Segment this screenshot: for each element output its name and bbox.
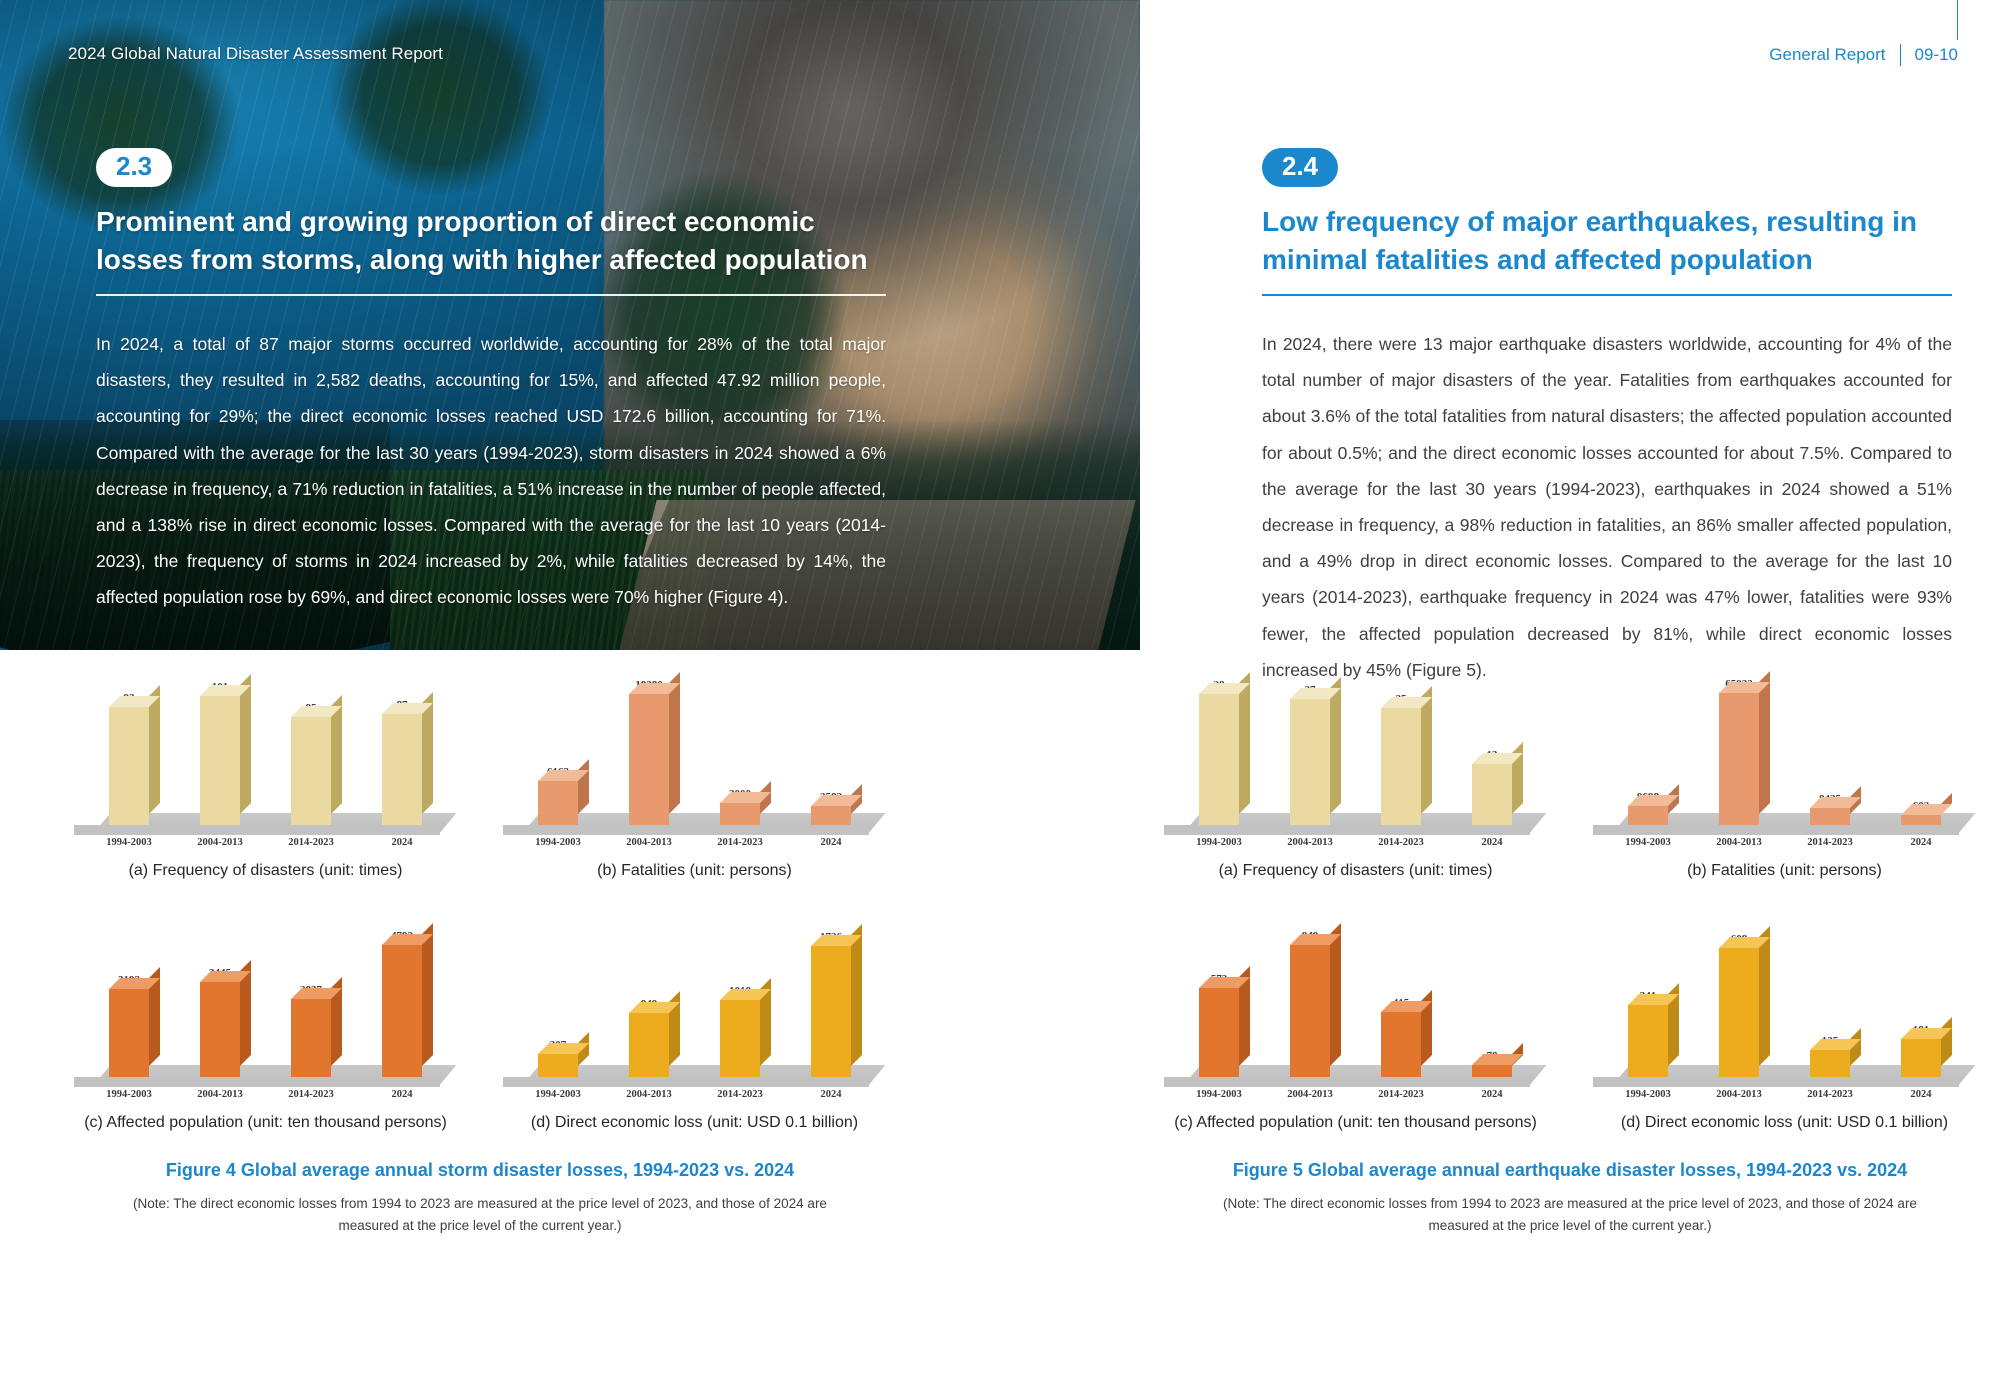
figure-5-note: (Note: The direct economic losses from 1… [1150, 1193, 1990, 1236]
bar-group: 1726 [808, 899, 854, 1077]
bar-side [1759, 926, 1770, 1066]
chart-plot-area: 28272513 [1156, 640, 1556, 835]
x-tick-label: 2014-2023 [1378, 1089, 1424, 1100]
x-tick-label: 2004-2013 [197, 1089, 243, 1100]
section-title-2-3: Prominent and growing proportion of dire… [96, 203, 886, 280]
bar-1994-2003 [538, 781, 578, 825]
section-number-badge-2-4: 2.4 [1262, 148, 1338, 187]
bar-side [578, 759, 589, 814]
bar-1994-2003 [1628, 1005, 1668, 1077]
x-tick-label: 1994-2003 [1625, 1089, 1671, 1100]
x-tick-label: 2014-2023 [1378, 837, 1424, 848]
section-title-rule-2-4 [1262, 294, 1952, 296]
bar-group: 85 [288, 647, 334, 825]
bar-group: 849 [1287, 899, 1333, 1077]
x-tick-label: 2014-2023 [717, 1089, 763, 1100]
bar-2004-2013 [1719, 693, 1759, 825]
bar-group: 28 [1196, 647, 1242, 825]
x-tick-label: 2024 [1469, 1089, 1515, 1100]
bar-side [669, 672, 680, 814]
bar-2024 [811, 946, 851, 1077]
chart-x-axis-labels: 1994-20032004-20132014-20232024 [495, 1089, 895, 1100]
bar-2014-2023 [720, 1000, 760, 1077]
chart-baseline [1164, 1077, 1530, 1087]
bar-group: 602 [1898, 647, 1944, 825]
bar-group: 1018 [717, 899, 763, 1077]
x-tick-label: 1994-2003 [535, 1089, 581, 1100]
figure-5-block: 282725131994-20032004-20132014-20232024(… [1150, 640, 1990, 1236]
chart-caption: (b) Fatalities (unit: persons) [1687, 862, 1882, 880]
section-body-2-3: In 2024, a total of 87 major storms occu… [96, 326, 886, 616]
section-storms: 2.3 Prominent and growing proportion of … [96, 148, 886, 616]
bar-face [629, 694, 669, 825]
figure-4-block: 9310185871994-20032004-20132014-20232024… [60, 640, 900, 1236]
bar-face [291, 717, 331, 825]
bar-2014-2023 [291, 999, 331, 1077]
chart-plot-area: 30784910181726 [495, 892, 895, 1087]
chart-x-axis-labels: 1994-20032004-20132014-20232024 [66, 837, 466, 848]
bar-face [811, 946, 851, 1077]
chart-baseline [1593, 1077, 1959, 1087]
bar-2024 [1472, 1065, 1512, 1077]
bar-2014-2023 [720, 803, 760, 825]
page-number: 09-10 [1915, 45, 1958, 65]
bar-2004-2013 [200, 696, 240, 825]
bar-1994-2003 [109, 989, 149, 1077]
bar-face [538, 781, 578, 825]
bar-face [1901, 1039, 1941, 1077]
bar-group: 4792 [379, 899, 425, 1077]
bar-face [109, 989, 149, 1077]
chart-caption: (a) Frequency of disasters (unit: times) [1219, 862, 1493, 880]
figure-4-title: Figure 4 Global average annual storm dis… [60, 1160, 900, 1181]
bar-top [1901, 804, 1952, 815]
x-tick-label: 2024 [379, 1089, 425, 1100]
bar-face [1719, 948, 1759, 1077]
chart-plot-area: 341608125181 [1585, 892, 1985, 1087]
x-tick-label: 1994-2003 [535, 837, 581, 848]
bar-group: 307 [535, 899, 581, 1077]
chart-caption: (d) Direct economic loss (unit: USD 0.1 … [1621, 1114, 1948, 1132]
bar-face [629, 1013, 669, 1077]
chart-fig4a: 9310185871994-20032004-20132014-20232024… [60, 640, 471, 880]
section-title-2-4: Low frequency of major earthquakes, resu… [1262, 203, 1952, 280]
chart-baseline [1593, 825, 1959, 835]
figure-5-charts: 282725131994-20032004-20132014-20232024(… [1150, 640, 1990, 1132]
bar-2004-2013 [629, 1013, 669, 1077]
x-tick-label: 2014-2023 [288, 1089, 334, 1100]
bar-group: 8425 [1807, 647, 1853, 825]
chart-bars: 57384941578 [1156, 899, 1556, 1077]
bar-group: 101 [197, 647, 243, 825]
bar-group: 27 [1287, 647, 1333, 825]
chart-x-axis-labels: 1994-20032004-20132014-20232024 [495, 837, 895, 848]
bar-face [720, 803, 760, 825]
x-tick-label: 2004-2013 [1287, 837, 1333, 848]
figure-4-charts: 9310185871994-20032004-20132014-20232024… [60, 640, 900, 1132]
section-earthquakes: 2.4 Low frequency of major earthquakes, … [1262, 148, 1952, 688]
bar-face [1810, 1050, 1850, 1077]
bar-group: 125 [1807, 899, 1853, 1077]
bar-group: 341 [1625, 899, 1671, 1077]
x-tick-label: 2014-2023 [288, 837, 334, 848]
chart-fig5a: 282725131994-20032004-20132014-20232024(… [1150, 640, 1561, 880]
bar-face [1628, 806, 1668, 825]
running-head-right: General Report 09-10 [1769, 44, 1958, 66]
running-head-divider [1900, 44, 1901, 66]
figure-5-title: Figure 5 Global average annual earthquak… [1150, 1160, 1990, 1181]
bar-2014-2023 [291, 717, 331, 825]
bar-group: 181 [1898, 899, 1944, 1077]
x-tick-label: 2014-2023 [717, 837, 763, 848]
bar-group: 93 [106, 647, 152, 825]
x-tick-label: 2004-2013 [1716, 837, 1762, 848]
chart-fig5b: 96986593284256021994-20032004-20132014-2… [1579, 640, 1990, 880]
chart-plot-area: 3193344528374792 [66, 892, 466, 1087]
bar-face [1290, 699, 1330, 825]
bar-2014-2023 [1381, 708, 1421, 825]
chart-caption: (a) Frequency of disasters (unit: times) [129, 862, 403, 880]
bar-2014-2023 [1810, 808, 1850, 825]
chart-baseline [503, 825, 869, 835]
bar-1994-2003 [1199, 694, 1239, 825]
x-tick-label: 2004-2013 [197, 837, 243, 848]
bar-2014-2023 [1810, 1050, 1850, 1077]
chart-bars: 3193344528374792 [66, 899, 466, 1077]
bar-face [109, 707, 149, 825]
chart-x-axis-labels: 1994-20032004-20132014-20232024 [1585, 837, 1985, 848]
bar-2024 [1472, 764, 1512, 825]
bar-face [1719, 693, 1759, 825]
x-tick-label: 1994-2003 [1196, 1089, 1242, 1100]
bar-group: 573 [1196, 899, 1242, 1077]
chart-plot-area: 9698659328425602 [1585, 640, 1985, 835]
bar-group: 87 [379, 647, 425, 825]
bar-side [1941, 1017, 1952, 1066]
bar-2014-2023 [1381, 1012, 1421, 1077]
section-body-2-4: In 2024, there were 13 major earthquake … [1262, 326, 1952, 688]
bar-face [1901, 815, 1941, 825]
bar-side [422, 923, 433, 1066]
chart-fig4d: 307849101817261994-20032004-20132014-202… [489, 892, 900, 1132]
bar-group: 608 [1716, 899, 1762, 1077]
x-tick-label: 2024 [1898, 837, 1944, 848]
chart-plot-area: 61631828030002582 [495, 640, 895, 835]
chart-bars: 341608125181 [1585, 899, 1985, 1077]
bar-group: 25 [1378, 647, 1424, 825]
bar-face [1472, 764, 1512, 825]
bar-group: 18280 [626, 647, 672, 825]
x-tick-label: 2004-2013 [1287, 1089, 1333, 1100]
bar-group: 78 [1469, 899, 1515, 1077]
chart-baseline [503, 1077, 869, 1087]
bar-face [1472, 1065, 1512, 1077]
x-tick-label: 1994-2003 [106, 1089, 152, 1100]
chart-caption: (c) Affected population (unit: ten thous… [1174, 1114, 1537, 1132]
report-spread: 2024 Global Natural Disaster Assessment … [0, 0, 2014, 1376]
bar-2004-2013 [629, 694, 669, 825]
bar-side [1759, 671, 1770, 814]
bar-top [1472, 1054, 1523, 1065]
chart-bars: 931018587 [66, 647, 466, 825]
bar-face [1199, 694, 1239, 825]
bar-group: 415 [1378, 899, 1424, 1077]
bar-group: 13 [1469, 647, 1515, 825]
bar-face [1381, 708, 1421, 825]
chart-caption: (d) Direct economic loss (unit: USD 0.1 … [531, 1114, 858, 1132]
bar-side [240, 674, 251, 814]
header-vertical-rule [1957, 0, 1958, 40]
bar-face [1199, 988, 1239, 1077]
chart-baseline [1164, 825, 1530, 835]
x-tick-label: 2014-2023 [1807, 837, 1853, 848]
bar-face [1381, 1012, 1421, 1077]
x-tick-label: 2024 [379, 837, 425, 848]
bar-2024 [382, 945, 422, 1077]
bar-group: 849 [626, 899, 672, 1077]
bar-side [1330, 923, 1341, 1066]
bar-group: 65932 [1716, 647, 1762, 825]
x-tick-label: 1994-2003 [1625, 837, 1671, 848]
bar-face [720, 1000, 760, 1077]
bar-group: 3000 [717, 647, 763, 825]
x-tick-label: 2004-2013 [626, 1089, 672, 1100]
chart-bars: 28272513 [1156, 647, 1556, 825]
bar-2024 [1901, 1039, 1941, 1077]
chart-bars: 61631828030002582 [495, 647, 895, 825]
x-tick-label: 2024 [808, 1089, 854, 1100]
bar-2004-2013 [200, 982, 240, 1077]
chart-fig4b: 616318280300025821994-20032004-20132014-… [489, 640, 900, 880]
bar-2024 [382, 714, 422, 825]
x-tick-label: 2004-2013 [626, 837, 672, 848]
running-head-left: 2024 Global Natural Disaster Assessment … [68, 44, 443, 64]
x-tick-label: 2014-2023 [1807, 1089, 1853, 1100]
bar-face [1810, 808, 1850, 825]
chart-x-axis-labels: 1994-20032004-20132014-20232024 [1156, 837, 1556, 848]
bar-2024 [811, 806, 851, 825]
chart-x-axis-labels: 1994-20032004-20132014-20232024 [1156, 1089, 1556, 1100]
bar-face [1628, 1005, 1668, 1077]
figure-4-note: (Note: The direct economic losses from 1… [60, 1193, 900, 1236]
chart-baseline [74, 1077, 440, 1087]
bar-group: 6163 [535, 647, 581, 825]
bar-group: 3445 [197, 899, 243, 1077]
bar-face [382, 714, 422, 825]
bar-side [1239, 672, 1250, 814]
chart-plot-area: 57384941578 [1156, 892, 1556, 1087]
chart-fig5c: 573849415781994-20032004-20132014-202320… [1150, 892, 1561, 1132]
chart-baseline [74, 825, 440, 835]
chart-caption: (c) Affected population (unit: ten thous… [84, 1114, 447, 1132]
chart-x-axis-labels: 1994-20032004-20132014-20232024 [66, 1089, 466, 1100]
bar-face [811, 806, 851, 825]
bar-2004-2013 [1290, 945, 1330, 1077]
bar-group: 2582 [808, 647, 854, 825]
bar-1994-2003 [1628, 806, 1668, 825]
bar-2024 [1901, 815, 1941, 825]
bar-1994-2003 [109, 707, 149, 825]
chart-bars: 9698659328425602 [1585, 647, 1985, 825]
bar-1994-2003 [538, 1054, 578, 1077]
x-tick-label: 2004-2013 [1716, 1089, 1762, 1100]
bar-face [1290, 945, 1330, 1077]
x-tick-label: 2024 [808, 837, 854, 848]
chart-plot-area: 931018587 [66, 640, 466, 835]
bar-face [382, 945, 422, 1077]
section-number-badge-2-3: 2.3 [96, 148, 172, 187]
bar-side [851, 924, 862, 1066]
bar-2004-2013 [1719, 948, 1759, 1077]
bar-2004-2013 [1290, 699, 1330, 825]
x-tick-label: 1994-2003 [1196, 837, 1242, 848]
bar-1994-2003 [1199, 988, 1239, 1077]
chart-fig4c: 31933445283747921994-20032004-20132014-2… [60, 892, 471, 1132]
x-tick-label: 1994-2003 [106, 837, 152, 848]
bar-side [1330, 677, 1341, 814]
x-tick-label: 2024 [1469, 837, 1515, 848]
bar-group: 2837 [288, 899, 334, 1077]
bar-face [200, 982, 240, 1077]
x-tick-label: 2024 [1898, 1089, 1944, 1100]
running-head-label: General Report [1769, 45, 1899, 65]
bar-group: 9698 [1625, 647, 1671, 825]
chart-bars: 30784910181726 [495, 899, 895, 1077]
bar-face [291, 999, 331, 1077]
chart-x-axis-labels: 1994-20032004-20132014-20232024 [1585, 1089, 1985, 1100]
chart-caption: (b) Fatalities (unit: persons) [597, 862, 792, 880]
bar-group: 3193 [106, 899, 152, 1077]
bar-face [538, 1054, 578, 1077]
bar-face [200, 696, 240, 825]
section-title-rule-2-3 [96, 294, 886, 296]
chart-fig5d: 3416081251811994-20032004-20132014-20232… [1579, 892, 1990, 1132]
